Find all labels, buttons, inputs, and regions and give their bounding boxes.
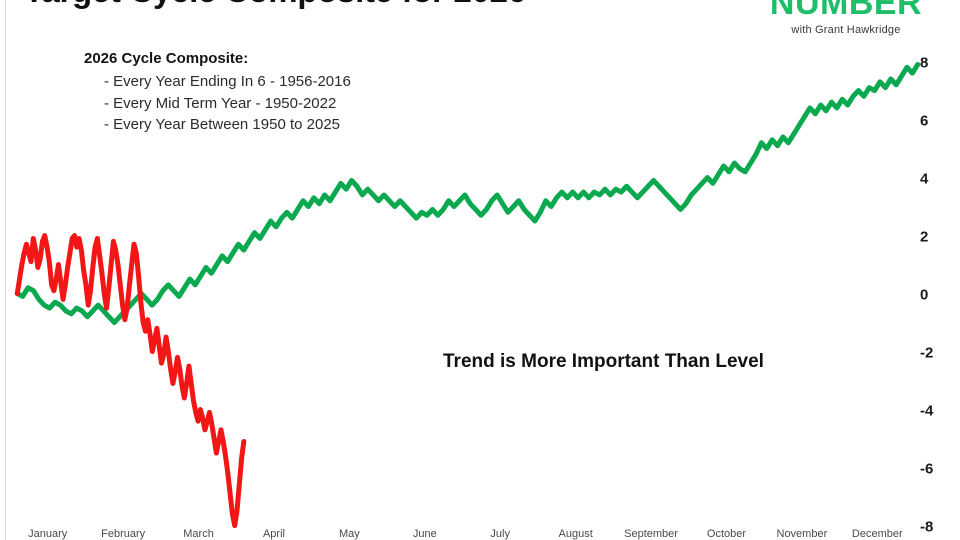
y-axis-tick: 6 bbox=[920, 113, 954, 130]
x-axis-tick-july: July bbox=[490, 528, 510, 540]
chart-svg bbox=[0, 0, 960, 540]
x-axis-tick-june: June bbox=[413, 528, 437, 540]
x-axis-tick-april: April bbox=[263, 528, 285, 540]
x-axis-tick-may: May bbox=[339, 528, 360, 540]
series-line-actual bbox=[17, 236, 244, 526]
x-axis-tick-august: August bbox=[559, 528, 593, 540]
callout-text: Trend is More Important Than Level bbox=[443, 351, 764, 373]
x-axis-tick-february: February bbox=[101, 528, 145, 540]
y-axis-tick: 2 bbox=[920, 229, 954, 246]
x-axis-tick-january: January bbox=[28, 528, 67, 540]
y-axis-tick: 8 bbox=[920, 55, 954, 72]
y-axis: 86420-2-4-6-8 bbox=[920, 0, 960, 540]
x-axis-tick-november: November bbox=[777, 528, 828, 540]
y-axis-tick: 4 bbox=[920, 171, 954, 188]
x-axis-tick-september: September bbox=[624, 528, 678, 540]
x-axis: JanuaryFebruaryMarchAprilMayJuneJulyAugu… bbox=[0, 528, 960, 540]
y-axis-tick: 0 bbox=[920, 287, 954, 304]
chart-plot-area bbox=[0, 0, 960, 540]
y-axis-tick: -2 bbox=[920, 345, 954, 362]
x-axis-tick-october: October bbox=[707, 528, 746, 540]
y-axis-tick: -4 bbox=[920, 403, 954, 420]
series-line-composite bbox=[17, 64, 917, 322]
x-axis-tick-march: March bbox=[183, 528, 214, 540]
x-axis-tick-december: December bbox=[852, 528, 903, 540]
chart-slide: Target Cycle Composite for 2026 NUMBER w… bbox=[0, 0, 960, 540]
y-axis-tick: -6 bbox=[920, 461, 954, 478]
